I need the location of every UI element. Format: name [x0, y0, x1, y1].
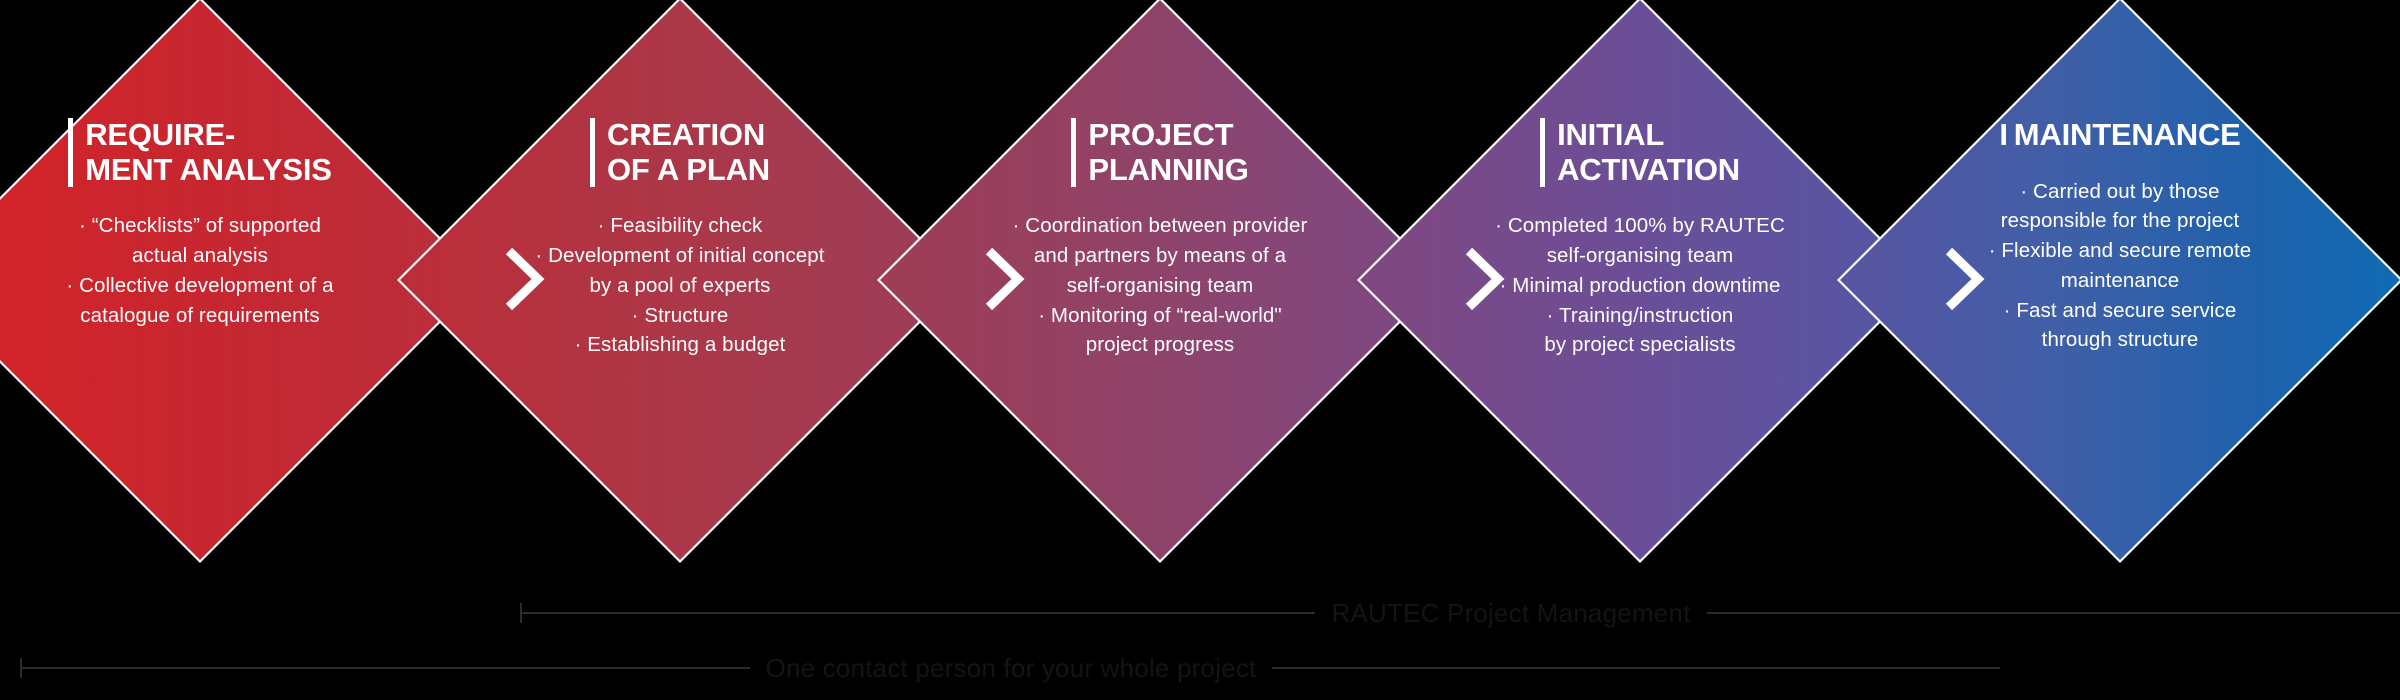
- process-step-5[interactable]: MAINTENANCE · Carried out by those respo…: [1840, 0, 2400, 560]
- diamond-shape: [1360, 0, 1920, 560]
- chevron-right-icon: [1465, 248, 1509, 310]
- chevron-right-icon: [985, 248, 1029, 310]
- caption-rule-right: [1272, 667, 2000, 669]
- caption-text: RAUTEC Project Management: [1315, 598, 1706, 629]
- process-diagram: REQUIRE- MENT ANALYSIS · “Checklists” of…: [0, 0, 2400, 700]
- caption-rautec-project-management: RAUTEC Project Management: [520, 600, 2400, 626]
- caption-rule-right: [1707, 612, 2400, 614]
- diamond-shape: [400, 0, 960, 560]
- chevron-right-icon: [1945, 248, 1989, 310]
- caption-rule-left: [522, 612, 1315, 614]
- process-step-4[interactable]: INITIAL ACTIVATION · Completed 100% by R…: [1360, 0, 1920, 560]
- diamond-shape: [1840, 0, 2400, 560]
- caption-one-contact-person: One contact person for your whole projec…: [20, 655, 2000, 681]
- caption-text: One contact person for your whole projec…: [750, 653, 1273, 684]
- diamond-shape: [880, 0, 1440, 560]
- bottom-plate-right: [2060, 676, 2400, 700]
- process-step-3[interactable]: PROJECT PLANNING · Coordination between …: [880, 0, 1440, 560]
- process-step-2[interactable]: CREATION OF A PLAN · Feasibility check ·…: [400, 0, 960, 560]
- chevron-right-icon: [505, 248, 549, 310]
- bottom-plate-left: [0, 686, 1000, 700]
- caption-rule-left: [22, 667, 750, 669]
